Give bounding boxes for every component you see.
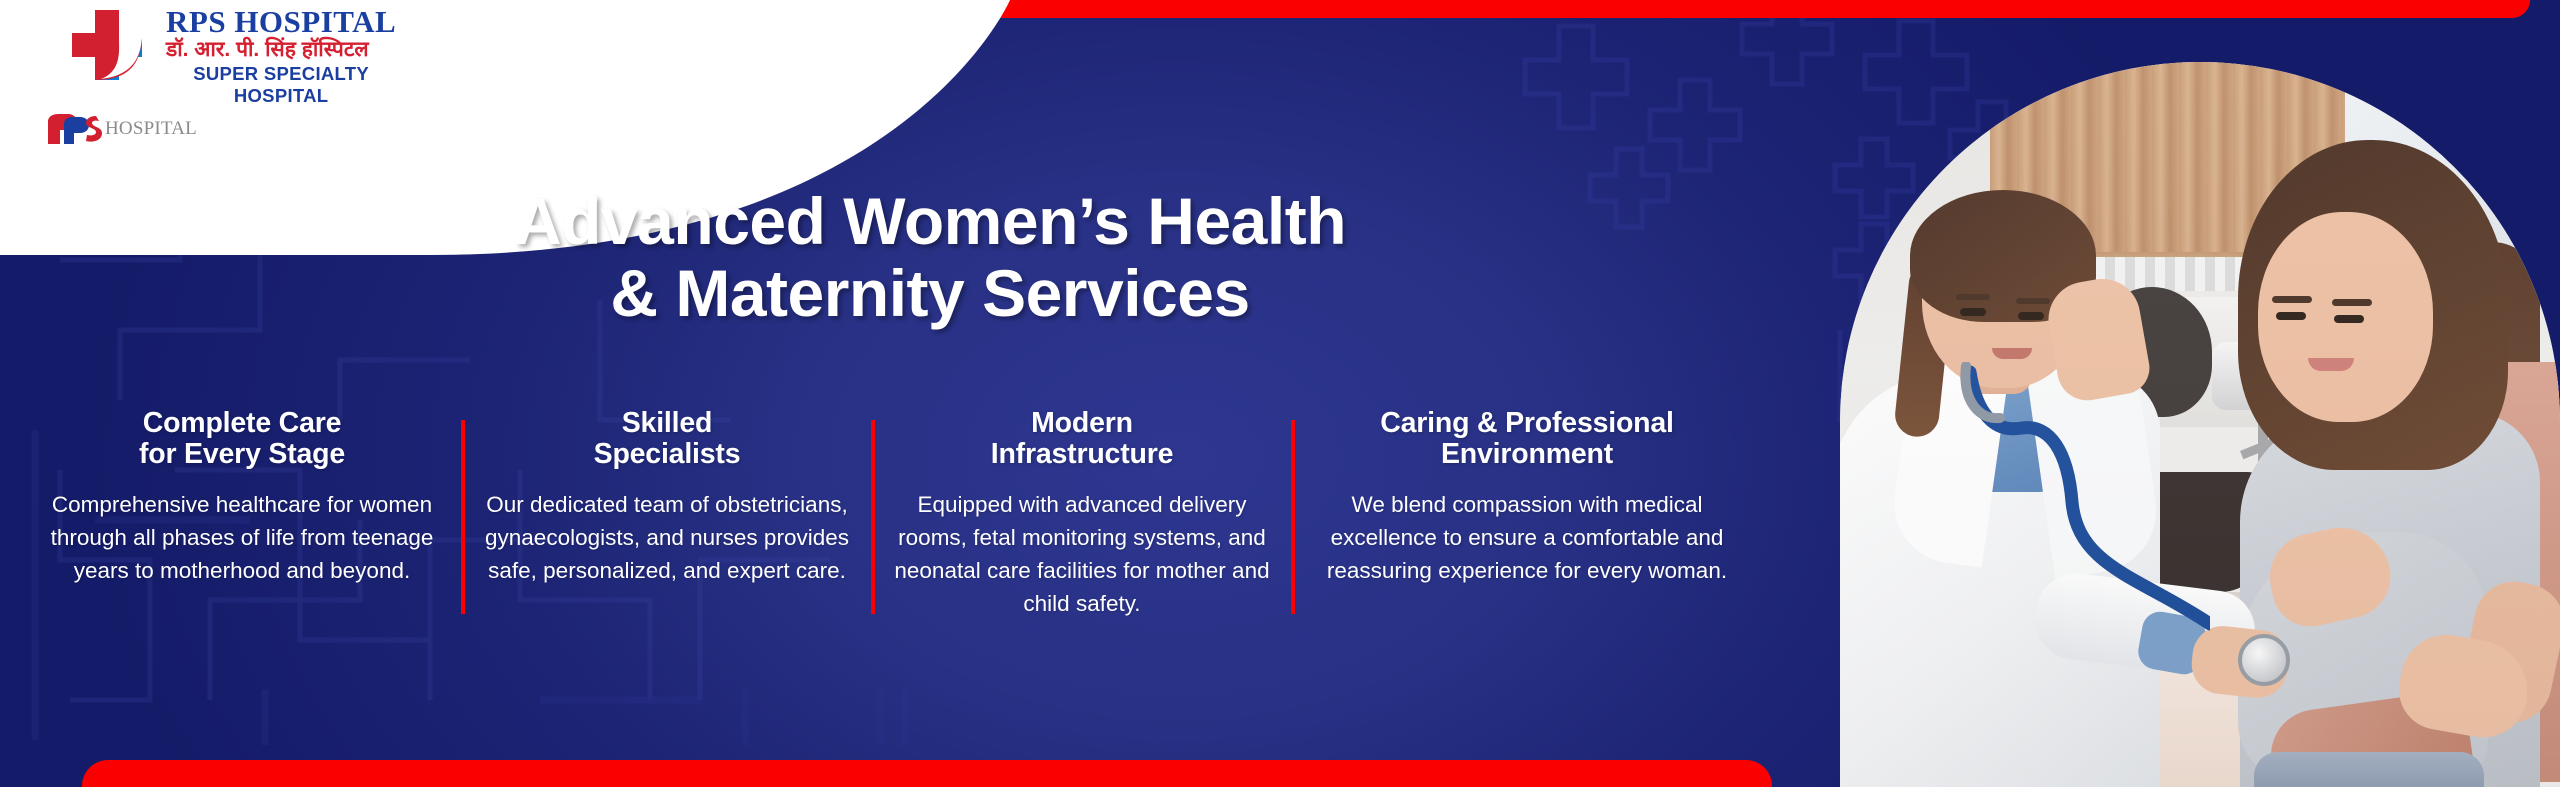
page-title: Advanced Women’s Health & Maternity Serv… [150, 186, 1710, 330]
feature-description: Equipped with advanced delivery rooms, f… [886, 488, 1278, 620]
brand-tagline-line1: SUPER SPECIALTY [166, 64, 396, 85]
feature-title-line-2: Specialists [594, 438, 741, 470]
feature-title-line-1: Caring & Professional [1380, 407, 1674, 439]
feature-columns: Complete Care for Every Stage Comprehens… [22, 408, 1812, 658]
brand-name-hindi: डॉ. आर. पी. सिंह हॉस्पिटल [166, 37, 396, 63]
feature-title-line-2: Environment [1441, 438, 1613, 470]
feature-title: Caring & Professional Environment [1306, 408, 1748, 471]
feature-complete-care: Complete Care for Every Stage Comprehens… [22, 408, 462, 658]
brand-name-english: RPS HOSPITAL [166, 6, 396, 38]
rps-sub-logo-label: HOSPITAL [105, 118, 197, 140]
feature-title: Complete Care for Every Stage [36, 408, 448, 471]
feature-description: Our dedicated team of obstetricians, gyn… [476, 488, 858, 587]
medical-cross-logo-icon [60, 4, 152, 96]
feature-description: We blend compassion with medical excelle… [1306, 488, 1748, 587]
feature-caring-environment: Caring & Professional Environment We ble… [1292, 408, 1762, 658]
hospital-logo[interactable]: RPS HOSPITAL डॉ. आर. पी. सिंह हॉस्पिटल S… [60, 4, 760, 104]
rps-monogram-icon [44, 112, 104, 146]
feature-skilled-specialists: Skilled Specialists Our dedicated team o… [462, 408, 872, 658]
feature-title-line-1: Modern [1031, 407, 1133, 439]
feature-description: Comprehensive healthcare for women throu… [36, 488, 448, 587]
bottom-red-accent-bar [82, 760, 1772, 787]
logo-wordmark: RPS HOSPITAL डॉ. आर. पी. सिंह हॉस्पिटल S… [166, 4, 396, 107]
feature-title-line-1: Complete Care [143, 407, 342, 439]
headline-line-2: & Maternity Services [150, 258, 1710, 330]
brand-tagline-line2: HOSPITAL [166, 86, 396, 107]
hero-photo [1840, 62, 2560, 787]
feature-title: Skilled Specialists [476, 408, 858, 471]
hero-photo-arch-mask [1840, 62, 2560, 787]
feature-title-line-2: Infrastructure [991, 438, 1174, 470]
hospital-promo-banner: RPS HOSPITAL डॉ. आर. पी. सिंह हॉस्पिटल S… [0, 0, 2560, 787]
feature-title-line-2: for Every Stage [139, 438, 345, 470]
feature-title-line-1: Skilled [622, 407, 712, 439]
feature-title: Modern Infrastructure [886, 408, 1278, 471]
feature-modern-infrastructure: Modern Infrastructure Equipped with adva… [872, 408, 1292, 658]
headline-line-1: Advanced Women’s Health [514, 184, 1346, 258]
rps-sub-logo[interactable]: HOSPITAL [44, 112, 197, 146]
